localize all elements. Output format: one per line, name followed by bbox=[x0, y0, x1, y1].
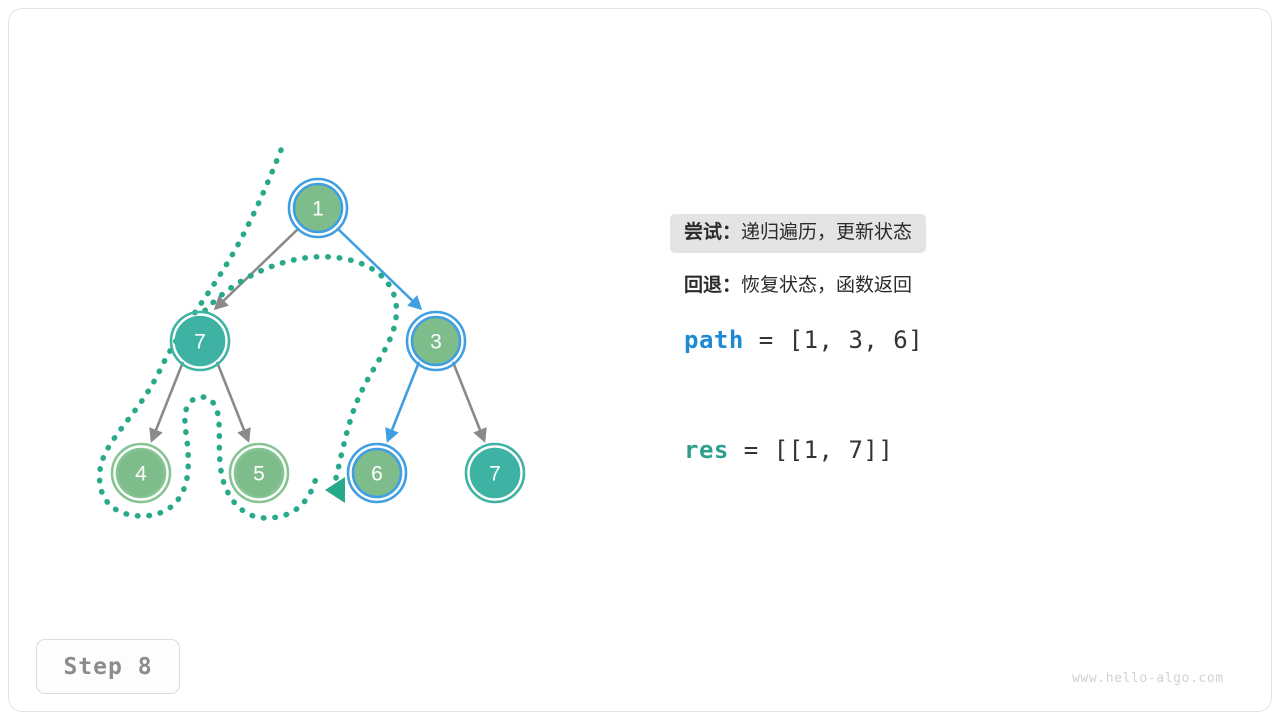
try-line: 尝试：递归遍历，更新状态 bbox=[684, 221, 912, 243]
edge-1-to-7left bbox=[216, 228, 299, 308]
node-7-left-label: 7 bbox=[194, 331, 206, 354]
step-badge-label: Step 8 bbox=[63, 654, 152, 680]
screenshot-frame: 1 7 3 4 5 bbox=[0, 0, 1280, 720]
node-7-right-label: 7 bbox=[489, 463, 501, 486]
node-1-label: 1 bbox=[312, 198, 324, 221]
tree-node-4[interactable]: 4 bbox=[112, 444, 170, 502]
tree-node-3[interactable]: 3 bbox=[407, 312, 465, 370]
tree-node-6[interactable]: 6 bbox=[348, 444, 406, 502]
edge-7left-to-5 bbox=[217, 362, 248, 440]
tree-node-1[interactable]: 1 bbox=[289, 179, 347, 237]
edge-3-to-7right bbox=[453, 362, 484, 440]
try-label: 尝试： bbox=[684, 221, 741, 243]
edge-3-to-6 bbox=[388, 362, 419, 440]
backtrack-text: 恢复状态，函数返回 bbox=[741, 274, 912, 296]
path-variable-row: path = [1, 3, 6] bbox=[684, 326, 1104, 354]
node-3-label: 3 bbox=[430, 331, 442, 354]
node-5-label: 5 bbox=[253, 463, 265, 486]
res-variable-value: = [[1, 7]] bbox=[729, 436, 893, 464]
tree-node-5[interactable]: 5 bbox=[230, 444, 288, 502]
res-variable-row: res = [[1, 7]] bbox=[684, 436, 1104, 464]
node-4-label: 4 bbox=[135, 463, 147, 486]
legend-panel: 尝试：递归遍历，更新状态 回退：恢复状态，函数返回 path = [1, 3, … bbox=[684, 214, 1104, 464]
edge-1-to-3 bbox=[337, 228, 420, 308]
node-6-label: 6 bbox=[371, 463, 383, 486]
backtrack-row: 回退：恢复状态，函数返回 bbox=[684, 275, 1104, 296]
backtrack-line: 回退：恢复状态，函数返回 bbox=[684, 274, 912, 296]
tree-node-7-left[interactable]: 7 bbox=[171, 312, 229, 370]
path-variable-value: = [1, 3, 6] bbox=[744, 326, 923, 354]
try-row-highlight: 尝试：递归遍历，更新状态 bbox=[670, 214, 926, 253]
backtrack-label: 回退： bbox=[684, 274, 741, 296]
try-text: 递归遍历，更新状态 bbox=[741, 221, 912, 243]
edge-7left-to-4 bbox=[152, 362, 183, 440]
traversal-arrowhead-icon bbox=[325, 477, 345, 503]
step-badge: Step 8 bbox=[36, 639, 180, 694]
tree-node-7-right[interactable]: 7 bbox=[466, 444, 524, 502]
watermark: www.hello-algo.com bbox=[1072, 671, 1224, 686]
try-row: 尝试：递归遍历，更新状态 bbox=[684, 214, 1104, 253]
path-variable-name: path bbox=[684, 326, 744, 354]
res-variable-name: res bbox=[684, 436, 729, 464]
